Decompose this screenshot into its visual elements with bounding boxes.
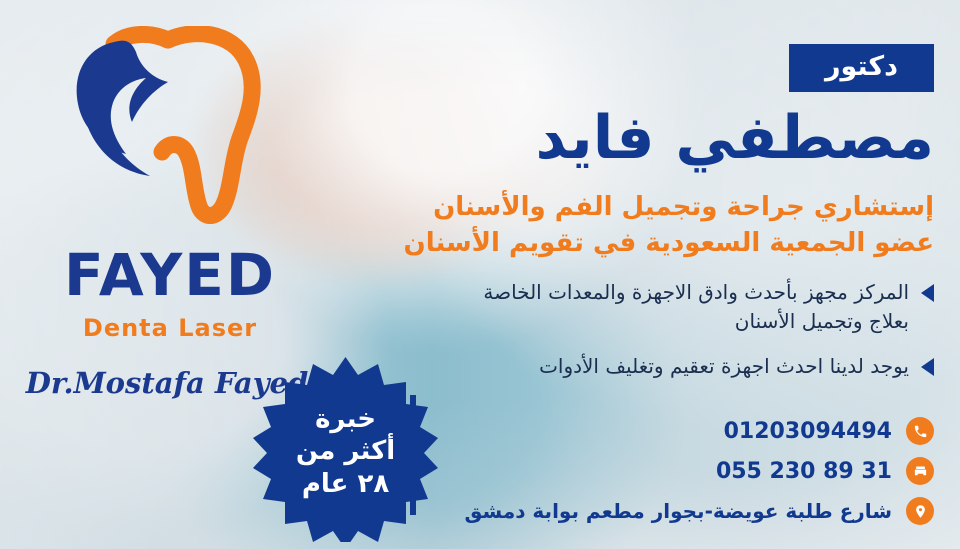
triangle-bullet-icon [921, 284, 934, 302]
contact-row-mobile[interactable]: 01203094494 [374, 417, 934, 445]
triangle-bullet-icon [921, 358, 934, 376]
contact-row-landline[interactable]: 055 230 89 31 [374, 457, 934, 485]
brand-name: FAYED [40, 246, 300, 304]
feature-text: المركز مجهز بأحدث وادق الاجهزة والمعدات … [469, 278, 909, 336]
address-text: شارع طلبة عويضة-بجوار مطعم بوابة دمشق [464, 499, 892, 523]
info-panel: دكتور مصطفي فايد إستشاري جراحة وتجميل ال… [360, 0, 960, 549]
list-item: يوجد لدينا احدث اجهزة تعقيم وتغليف الأدو… [374, 352, 934, 381]
brand-subtitle: Denta Laser [40, 314, 300, 342]
doctor-name: مصطفي فايد [536, 104, 935, 173]
telephone-icon [906, 457, 934, 485]
specialty-line-2: عضو الجمعية السعودية في تقويم الأسنان [404, 228, 935, 258]
contact-block: 01203094494 055 230 89 31 شارع طلبة عويض… [374, 417, 934, 537]
mobile-number: 01203094494 [724, 419, 892, 444]
doctor-title-tag: دكتور [789, 44, 934, 92]
feature-text: يوجد لدينا احدث اجهزة تعقيم وتغليف الأدو… [539, 352, 909, 381]
location-pin-icon [906, 497, 934, 525]
tooth-with-bird-icon [56, 26, 276, 226]
contact-row-address[interactable]: شارع طلبة عويضة-بجوار مطعم بوابة دمشق [374, 497, 934, 525]
dental-clinic-poster: FAYED Denta Laser Dr.Mostafa Fayed خبرة … [0, 0, 960, 549]
specialty-line-1: إستشاري جراحة وتجميل الفم والأسنان [433, 192, 934, 222]
list-item: المركز مجهز بأحدث وادق الاجهزة والمعدات … [374, 278, 934, 336]
landline-number: 055 230 89 31 [716, 459, 892, 484]
features-list: المركز مجهز بأحدث وادق الاجهزة والمعدات … [374, 278, 934, 397]
phone-icon [906, 417, 934, 445]
